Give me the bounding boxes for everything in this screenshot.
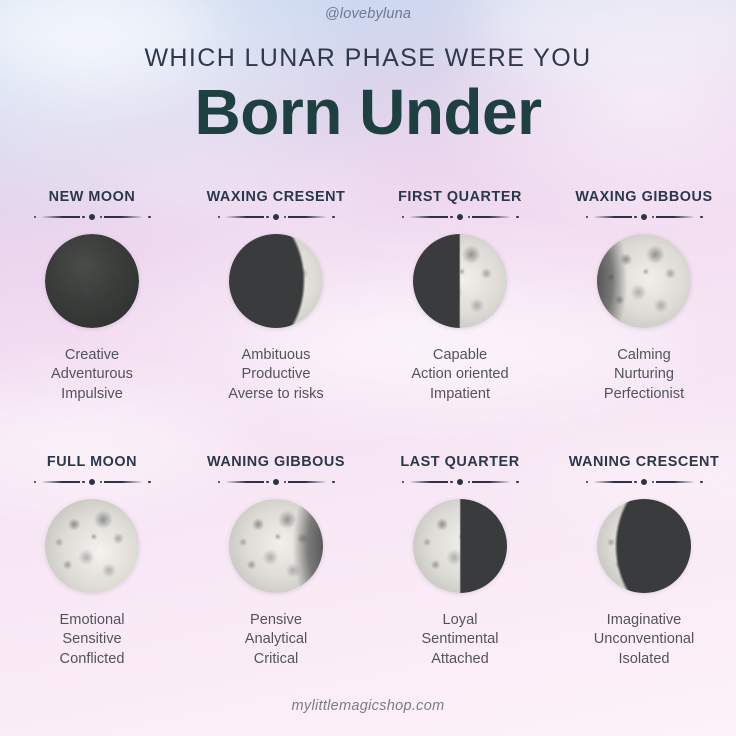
trait-line: Impulsive xyxy=(0,385,184,404)
ornament-divider-icon xyxy=(584,212,704,221)
phase-traits: CapableAction orientedImpatient xyxy=(368,346,552,404)
trait-line: Action oriented xyxy=(368,365,552,384)
new-moon-icon xyxy=(45,234,139,328)
moon-illustration xyxy=(413,234,507,328)
waxing-gibbous-moon-icon xyxy=(597,234,691,328)
trait-line: Adventurous xyxy=(0,365,184,384)
ornament-divider-icon xyxy=(216,477,336,486)
phase-cell: FIRST QUARTERCapableAction orientedImpat… xyxy=(368,186,552,451)
moon-shadow xyxy=(229,234,323,328)
footer-website: mylittlemagicshop.com xyxy=(0,698,736,714)
phase-traits: AmbituousProductiveAverse to risks xyxy=(184,346,368,404)
moon-shadow xyxy=(597,499,691,593)
phase-cell: WAXING CRESENTAmbituousProductiveAverse … xyxy=(184,186,368,451)
trait-line: Pensive xyxy=(184,611,368,630)
trait-line: Critical xyxy=(184,650,368,669)
phase-traits: PensiveAnalyticalCritical xyxy=(184,611,368,669)
trait-line: Analytical xyxy=(184,630,368,649)
phase-traits: CreativeAdventurousImpulsive xyxy=(0,346,184,404)
phase-traits: LoyalSentimentalAttached xyxy=(368,611,552,669)
trait-line: Ambituous xyxy=(184,346,368,365)
phase-name: WANING CRESCENT xyxy=(552,451,736,469)
lunar-phase-grid: NEW MOONCreativeAdventurousImpulsiveWAXI… xyxy=(0,186,736,716)
phase-name: FULL MOON xyxy=(0,451,184,469)
trait-line: Isolated xyxy=(552,650,736,669)
phase-traits: EmotionalSensitiveConflicted xyxy=(0,611,184,669)
trait-line: Conflicted xyxy=(0,650,184,669)
moon-illustration xyxy=(229,499,323,593)
last-quarter-moon-icon xyxy=(413,499,507,593)
trait-line: Loyal xyxy=(368,611,552,630)
trait-line: Sensitive xyxy=(0,630,184,649)
moon-surface xyxy=(45,499,139,593)
phase-name: LAST QUARTER xyxy=(368,451,552,469)
ornament-divider-icon xyxy=(32,477,152,486)
trait-line: Emotional xyxy=(0,611,184,630)
phase-cell: WANING CRESCENTImaginativeUnconventional… xyxy=(552,451,736,716)
ornament-divider-icon xyxy=(32,212,152,221)
trait-line: Nurturing xyxy=(552,365,736,384)
phase-name: WAXING GIBBOUS xyxy=(552,186,736,204)
trait-line: Calming xyxy=(552,346,736,365)
phase-name: FIRST QUARTER xyxy=(368,186,552,204)
phase-cell: LAST QUARTERLoyalSentimentalAttached xyxy=(368,451,552,716)
phase-name: WANING GIBBOUS xyxy=(184,451,368,469)
moon-illustration xyxy=(45,499,139,593)
moon-illustration xyxy=(229,234,323,328)
moon-illustration xyxy=(45,234,139,328)
full-moon-icon xyxy=(45,499,139,593)
moon-shadow xyxy=(413,234,507,328)
moon-surface xyxy=(45,234,139,328)
phase-name: WAXING CRESENT xyxy=(184,186,368,204)
moon-illustration xyxy=(597,499,691,593)
ornament-divider-icon xyxy=(216,212,336,221)
trait-line: Impatient xyxy=(368,385,552,404)
ornament-divider-icon xyxy=(400,212,520,221)
trait-line: Creative xyxy=(0,346,184,365)
trait-line: Productive xyxy=(184,365,368,384)
phase-cell: WANING GIBBOUSPensiveAnalyticalCritical xyxy=(184,451,368,716)
phase-cell: NEW MOONCreativeAdventurousImpulsive xyxy=(0,186,184,451)
trait-line: Averse to risks xyxy=(184,385,368,404)
waning-crescent-moon-icon xyxy=(597,499,691,593)
phase-cell: FULL MOONEmotionalSensitiveConflicted xyxy=(0,451,184,716)
trait-line: Unconventional xyxy=(552,630,736,649)
waning-gibbous-moon-icon xyxy=(229,499,323,593)
moon-illustration xyxy=(597,234,691,328)
trait-line: Perfectionist xyxy=(552,385,736,404)
trait-line: Capable xyxy=(368,346,552,365)
ornament-divider-icon xyxy=(400,477,520,486)
waxing-crescent-moon-icon xyxy=(229,234,323,328)
trait-line: Imaginative xyxy=(552,611,736,630)
moon-craters xyxy=(45,234,139,328)
moon-shadow xyxy=(229,499,323,593)
phase-name: NEW MOON xyxy=(0,186,184,204)
instagram-handle: @lovebyluna xyxy=(0,6,736,22)
first-quarter-moon-icon xyxy=(413,234,507,328)
trait-line: Sentimental xyxy=(368,630,552,649)
phase-traits: CalmingNurturingPerfectionist xyxy=(552,346,736,404)
ornament-divider-icon xyxy=(584,477,704,486)
moon-shadow xyxy=(597,234,691,328)
page-title: Born Under xyxy=(0,80,736,144)
moon-illustration xyxy=(413,499,507,593)
page-kicker: WHICH LUNAR PHASE WERE YOU xyxy=(0,44,736,73)
phase-traits: ImaginativeUnconventionalIsolated xyxy=(552,611,736,669)
moon-craters xyxy=(45,499,139,593)
trait-line: Attached xyxy=(368,650,552,669)
phase-cell: WAXING GIBBOUSCalmingNurturingPerfection… xyxy=(552,186,736,451)
moon-shadow xyxy=(413,499,507,593)
